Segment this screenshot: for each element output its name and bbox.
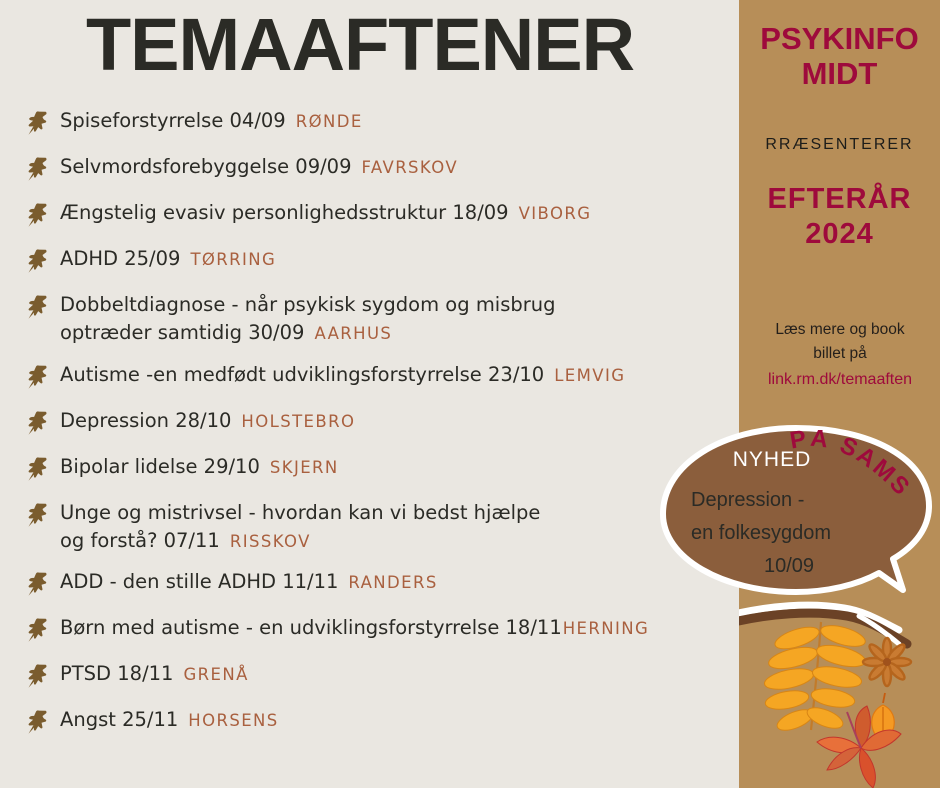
event-city: TØRRING [190,250,276,269]
event-title: Selvmordsforebyggelse 09/09 [60,155,352,178]
list-item-text: PTSD 18/11GRENÅ [60,659,249,688]
event-city: HOLSTEBRO [241,412,355,431]
event-list: Spiseforstyrrelse 04/09RØNDE Selvmordsfo… [24,106,739,751]
event-title-continued: og forstå? 07/11 [60,529,220,552]
list-item-text: ADD - den stille ADHD 11/11RANDERS [60,567,438,596]
list-item[interactable]: ADHD 25/09TØRRING [24,244,739,278]
pushpin-icon [24,246,54,276]
list-item[interactable]: ADD - den stille ADHD 11/11RANDERS [24,567,739,601]
bubble-text-content: NYHED Depression - en folkesygdom 10/09 … [657,424,940,636]
list-item[interactable]: Selvmordsforebyggelse 09/09FAVRSKOV [24,152,739,186]
list-item-text: ADHD 25/09TØRRING [60,244,276,273]
list-item[interactable]: PTSD 18/11GRENÅ [24,659,739,693]
arc-label-pa-samso: PÅ SAMSØ [785,430,935,510]
event-title: Dobbeltdiagnose - når psykisk sygdom og … [60,293,556,316]
list-item[interactable]: Ængstelig evasiv personlighedsstruktur 1… [24,198,739,232]
event-city: VIBORG [519,204,592,223]
bubble-line-3: 10/09 [675,550,903,583]
event-title: Ængstelig evasiv personlighedsstruktur 1… [60,201,509,224]
event-city: RISSKOV [230,532,311,551]
main-content-column: TEMAAFTENER Spiseforstyrrelse 04/09RØNDE… [0,0,739,788]
event-title: Bipolar lidelse 29/10 [60,455,260,478]
list-item-text: Unge og mistrivsel - hvordan kan vi beds… [60,498,540,556]
event-title: Børn med autisme - en udviklingsforstyrr… [60,616,562,639]
list-item-text: Selvmordsforebyggelse 09/09FAVRSKOV [60,152,458,181]
booking-text-line1: Læs mere og book [775,321,904,338]
pushpin-icon [24,108,54,138]
list-item[interactable]: Spiseforstyrrelse 04/09RØNDE [24,106,739,140]
event-city: HORSENS [188,711,278,730]
event-title: Depression 28/10 [60,409,231,432]
event-city: FAVRSKOV [362,158,459,177]
event-city: SKJERN [270,458,339,477]
list-item-text: Dobbeltdiagnose - når psykisk sygdom og … [60,290,556,348]
pushpin-icon [24,408,54,438]
list-item[interactable]: Børn med autisme - en udviklingsforstyrr… [24,613,739,647]
event-title-continued: optræder samtidig 30/09 [60,321,304,344]
sidebar-panel: PSYKINFO MIDT RRÆSENTERER EFTERÅR 2024 L… [739,0,940,788]
news-speech-bubble[interactable]: NYHED Depression - en folkesygdom 10/09 … [657,424,940,636]
bubble-line-2: en folkesygdom [675,517,903,550]
event-title-line2: og forstå? 07/11RISSKOV [60,527,540,555]
event-city: HERNING [563,619,649,638]
list-item-text: Spiseforstyrrelse 04/09RØNDE [60,106,363,135]
event-title: Spiseforstyrrelse 04/09 [60,109,286,132]
presenter-label: RRÆSENTERER [739,136,940,154]
list-item[interactable]: Unge og mistrivsel - hvordan kan vi beds… [24,498,739,556]
arc-label-text: PÅ SAMSØ [785,430,916,502]
event-title: Angst 25/11 [60,708,178,731]
pushpin-icon [24,362,54,392]
list-item-text: Autisme -en medfødt udviklingsforstyrrel… [60,360,625,389]
pushpin-icon [24,292,54,322]
list-item-text: Børn med autisme - en udviklingsforstyrr… [60,613,649,642]
booking-info: Læs mere og book billet på link.rm.dk/te… [745,318,935,393]
season-label: EFTERÅR 2024 [739,182,940,252]
booking-link[interactable]: link.rm.dk/temaaften [745,368,935,393]
list-item-text: Ængstelig evasiv personlighedsstruktur 1… [60,198,591,227]
booking-text-line2: billet på [813,345,866,362]
pushpin-icon [24,154,54,184]
event-title-line2: optræder samtidig 30/09AARHUS [60,319,556,347]
event-title: ADD - den stille ADHD 11/11 [60,570,338,593]
pushpin-icon [24,500,54,530]
event-city: AARHUS [314,324,392,343]
pushpin-icon [24,454,54,484]
event-title: PTSD 18/11 [60,662,173,685]
event-title: Unge og mistrivsel - hvordan kan vi beds… [60,501,540,524]
event-city: GRENÅ [183,665,248,684]
list-item-text: Depression 28/10HOLSTEBRO [60,406,355,435]
pushpin-icon [24,707,54,737]
list-item[interactable]: Autisme -en medfødt udviklingsforstyrrel… [24,360,739,394]
event-city: RØNDE [296,112,363,131]
brand-logo-text: PSYKINFO MIDT [739,22,940,91]
pushpin-icon [24,661,54,691]
sidebar-content: PSYKINFO MIDT RRÆSENTERER EFTERÅR 2024 L… [739,0,940,788]
page-title: TEMAAFTENER [0,8,720,82]
list-item[interactable]: Depression 28/10HOLSTEBRO [24,406,739,440]
pushpin-icon [24,615,54,645]
event-city: LEMVIG [554,366,625,385]
pushpin-icon [24,200,54,230]
list-item-text: Angst 25/11HORSENS [60,705,279,734]
pushpin-icon [24,569,54,599]
poster-canvas: TEMAAFTENER Spiseforstyrrelse 04/09RØNDE… [0,0,940,788]
event-title: Autisme -en medfødt udviklingsforstyrrel… [60,363,544,386]
list-item[interactable]: Bipolar lidelse 29/10SKJERN [24,452,739,486]
list-item[interactable]: Angst 25/11HORSENS [24,705,739,739]
list-item[interactable]: Dobbeltdiagnose - når psykisk sygdom og … [24,290,739,348]
event-title: ADHD 25/09 [60,247,180,270]
event-city: RANDERS [348,573,437,592]
list-item-text: Bipolar lidelse 29/10SKJERN [60,452,339,481]
